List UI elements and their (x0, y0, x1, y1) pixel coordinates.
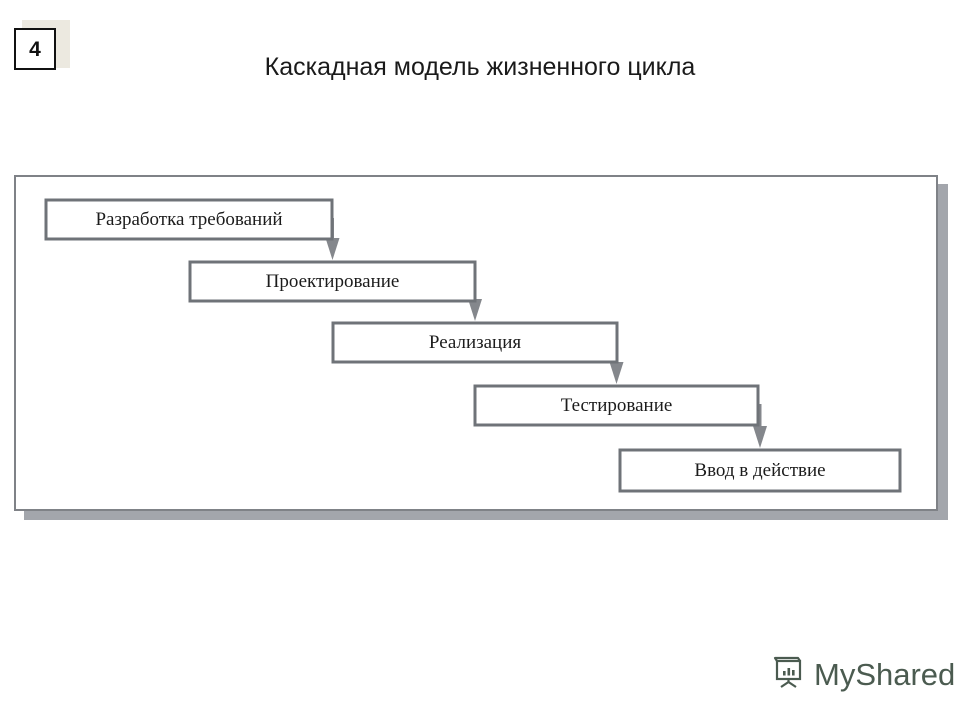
watermark-label: MyShared (814, 659, 955, 690)
page-title: Каскадная модель жизненного цикла (0, 53, 960, 82)
presentation-board-icon (772, 655, 806, 694)
flow-box-label: Реализация (429, 332, 522, 353)
arrowhead-icon (753, 426, 767, 448)
flow-box-5[interactable]: Ввод в действие (620, 450, 900, 491)
arrowhead-icon (326, 238, 340, 260)
arrowhead-icon (610, 362, 624, 384)
flow-box-label: Проектирование (266, 271, 400, 292)
flow-box-1[interactable]: Разработка требований (46, 200, 332, 239)
flow-box-label: Разработка требований (95, 209, 282, 230)
flow-box-3[interactable]: Реализация (333, 323, 617, 362)
diagram-panel: Разработка требованийПроектированиеРеали… (14, 175, 938, 511)
waterfall-diagram: Разработка требованийПроектированиеРеали… (16, 177, 936, 509)
flow-box-label: Ввод в действие (694, 460, 825, 481)
watermark: MyShared (772, 655, 955, 694)
flow-box-4[interactable]: Тестирование (475, 386, 758, 425)
flow-box-label: Тестирование (561, 395, 673, 416)
flow-box-2[interactable]: Проектирование (190, 262, 475, 301)
